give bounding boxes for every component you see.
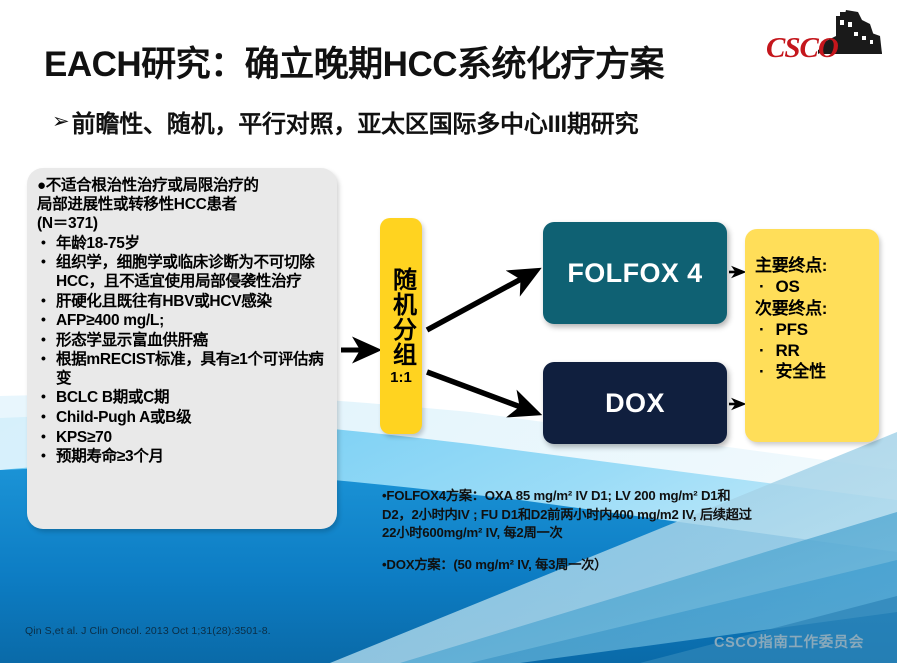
- list-item: 肝硬化且既往有HBV或HCV感染: [37, 293, 329, 312]
- list-item: 组织学，细胞学或临床诊断为不可切除HCC，且不适宜使用局部侵袭性治疗: [37, 254, 329, 291]
- list-item: 预期寿命≥3个月: [37, 448, 329, 467]
- csco-wordmark: CSCO: [766, 32, 838, 65]
- endpoint-bullet-icon: ·: [759, 320, 764, 339]
- treatment-arm-dox: DOX: [543, 362, 727, 444]
- arrow-randomization-to-dox: [427, 372, 534, 412]
- endpoint-item: ·RR: [755, 340, 873, 361]
- list-item: Child-Pugh A或B级: [37, 409, 329, 428]
- endpoint-bullet-icon: ·: [759, 362, 764, 381]
- list-item: BCLC B期或C期: [37, 389, 329, 408]
- footer-organization: CSCO指南工作委员会: [714, 631, 864, 652]
- secondary-endpoint-heading: 次要终点:: [755, 298, 873, 319]
- folfox-regimen-line2: D2，2小时内IV ; FU D1和D2前两小时内400 mg/m2 IV, 后…: [382, 506, 882, 525]
- criteria-heading: ●不适合根治性治疗或局限治疗的 局部进展性或转移性HCC患者 (N＝371): [37, 177, 329, 234]
- endpoint-label: PFS: [775, 320, 807, 339]
- list-item: KPS≥70: [37, 429, 329, 448]
- inclusion-criteria-card: ●不适合根治性治疗或局限治疗的 局部进展性或转移性HCC患者 (N＝371) 年…: [27, 168, 337, 529]
- citation-text: Qin S,et al. J Clin Oncol. 2013 Oct 1;31…: [25, 625, 271, 637]
- endpoint-item: ·PFS: [755, 319, 873, 340]
- arrow-bullet-icon: ➢: [52, 111, 70, 132]
- dox-regimen-line: •DOX方案：(50 mg/m² IV, 每3周一次）: [382, 556, 882, 575]
- endpoint-bullet-icon: ·: [759, 341, 764, 360]
- criteria-list: 年龄18-75岁 组织学，细胞学或临床诊断为不可切除HCC，且不适宜使用局部侵袭…: [37, 235, 329, 467]
- endpoint-item: ·OS: [755, 276, 873, 297]
- endpoint-label: OS: [775, 277, 799, 296]
- list-item: 年龄18-75岁: [37, 235, 329, 254]
- folfox-regimen-line3: 22小时600mg/m² IV, 每2周一次: [382, 524, 882, 543]
- endpoint-label: RR: [775, 341, 799, 360]
- criteria-lead-line3: (N＝371): [37, 215, 98, 232]
- endpoint-item: ·安全性: [755, 361, 873, 382]
- arrow-randomization-to-folfox: [427, 272, 534, 330]
- randomization-box: 随机分组 1:1: [380, 218, 422, 434]
- criteria-lead-line2: 局部进展性或转移性HCC患者: [37, 196, 237, 213]
- list-item: 形态学显示富血供肝癌: [37, 332, 329, 351]
- list-item: AFP≥400 mg/L;: [37, 312, 329, 331]
- csco-logo: CSCO: [762, 6, 890, 68]
- page-subtitle: 前瞻性、随机，平行对照，亚太区国际多中心III期研究: [72, 104, 639, 139]
- criteria-lead-line1: 不适合根治性治疗或局限治疗的: [46, 177, 259, 194]
- primary-endpoint-heading: 主要终点:: [755, 255, 873, 276]
- endpoint-label: 安全性: [775, 362, 825, 381]
- regimen-notes: •FOLFOX4方案：OXA 85 mg/m² IV D1; LV 200 mg…: [382, 487, 882, 575]
- page-title: EACH研究：确立晚期HCC系统化疗方案: [44, 36, 664, 87]
- treatment-arm-folfox: FOLFOX 4: [543, 222, 727, 324]
- list-item: 根据mRECIST标准，具有≥1个可评估病变: [37, 351, 329, 388]
- subtitle-row: ➢ 前瞻性、随机，平行对照，亚太区国际多中心III期研究: [52, 104, 638, 139]
- slide-canvas: CSCO EACH研究：确立晚期HCC系统化疗方案 ➢ 前瞻性、随机，平行对照，…: [0, 0, 897, 663]
- endpoints-card: 主要终点: ·OS 次要终点: ·PFS ·RR ·安全性: [745, 229, 879, 442]
- randomization-ratio: 1:1: [390, 370, 412, 385]
- folfox-regimen-line1: •FOLFOX4方案：OXA 85 mg/m² IV D1; LV 200 mg…: [382, 487, 882, 506]
- randomization-label: 随机分组: [389, 267, 414, 367]
- endpoint-bullet-icon: ·: [759, 277, 764, 296]
- criteria-lead-bullet-icon: ●: [37, 177, 46, 194]
